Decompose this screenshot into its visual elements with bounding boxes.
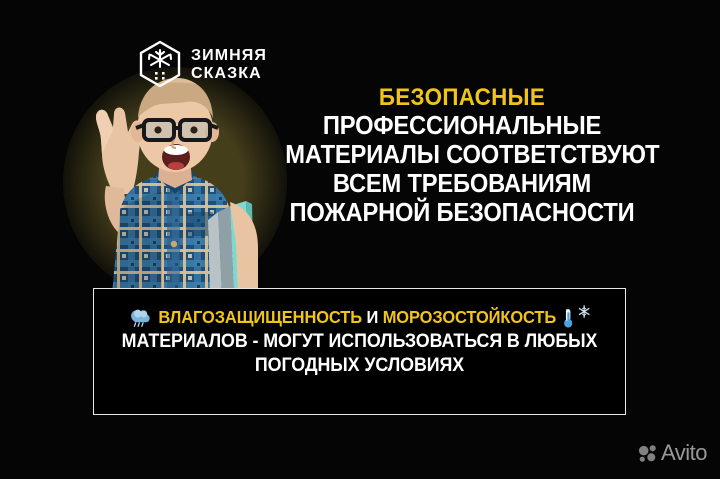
headline: БЕЗОПАСНЫЕ ПРОФЕССИОНАЛЬНЫЕ МАТЕРИАЛЫ СО… [272, 83, 652, 228]
advertisement-banner: ЗИМНЯЯ СКАЗКА [0, 0, 720, 479]
brand-logo: ЗИМНЯЯ СКАЗКА [138, 40, 267, 88]
avito-label: Avito [661, 442, 707, 464]
snowflake-icon [578, 305, 590, 318]
snowflake-hexagon-icon [138, 40, 182, 88]
brand-name-line2: СКАЗКА [191, 66, 267, 82]
feature-highlight-frost: МОРОЗОСТОЙКОСТЬ [383, 307, 556, 327]
boy-photo [62, 62, 288, 294]
brand-name: ЗИМНЯЯ СКАЗКА [191, 46, 267, 82]
features-line-2: МАТЕРИАЛОВ - МОГУТ ИСПОЛЬЗОВАТЬСЯ В ЛЮБЫ… [110, 330, 609, 354]
headline-line-2: ПРОФЕССИОНАЛЬНЫЕ [285, 112, 638, 141]
rain-cloud-icon [129, 308, 152, 327]
thermometer-icon [563, 308, 573, 329]
feature-conjunction: И [366, 307, 378, 327]
features-box: ВЛАГОЗАЩИЩЕННОСТЬ И МОРОЗОСТОЙКОСТЬ [93, 288, 626, 415]
headline-line-1: БЕЗОПАСНЫЕ [285, 83, 638, 112]
headline-line-3: МАТЕРИАЛЫ СООТВЕТСТВУЮТ [285, 141, 638, 170]
features-line-3: ПОГОДНЫХ УСЛОВИЯХ [110, 354, 609, 378]
avito-watermark: Avito [638, 442, 707, 464]
headline-line-5: ПОЖАРНОЙ БЕЗОПАСНОСТИ [285, 199, 638, 228]
headline-line-4: ВСЕМ ТРЕБОВАНИЯМ [285, 170, 638, 199]
features-line-1: ВЛАГОЗАЩИЩЕННОСТЬ И МОРОЗОСТОЙКОСТЬ [110, 305, 609, 330]
brand-name-line1: ЗИМНЯЯ [191, 48, 267, 64]
avito-dots-icon [638, 444, 657, 463]
feature-highlight-water: ВЛАГОЗАЩИЩЕННОСТЬ [158, 307, 362, 327]
